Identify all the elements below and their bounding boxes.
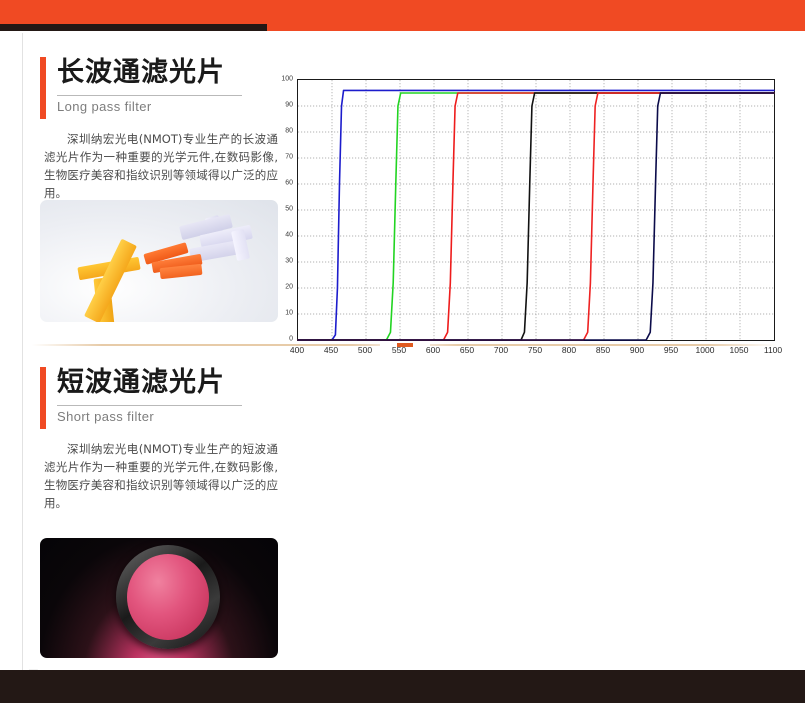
y-tick-label: 70 [285,154,293,161]
x-tick-label: 1050 [730,345,749,355]
x-tick-label: 900 [630,345,644,355]
y-tick-label: 20 [285,284,293,291]
long-pass-product-image [40,200,278,322]
x-tick-label: 1100 [764,345,782,355]
y-tick-label: 10 [285,310,293,317]
x-tick-label: 750 [528,345,542,355]
chart1-curves [298,80,774,340]
lens-ring [116,545,220,649]
page-title-cn: 长波通滤光片 [57,55,278,91]
page-root: 长波通滤光片 Long pass filter 深圳纳宏光电(NMOT)专业生产… [0,0,805,703]
y-tick-label: 30 [285,258,293,265]
y-tick-label: 60 [285,180,293,187]
x-tick-label: 500 [358,345,372,355]
long-pass-description: 深圳纳宏光电(NMOT)专业生产的长波通滤光片作为一种重要的光学元件,在数码影像… [44,130,278,202]
y-tick-label: 80 [285,128,293,135]
short-pass-text-column: 短波通滤光片 Short pass filter 深圳纳宏光电(NMOT)专业生… [40,365,278,512]
top-orange-banner [0,0,805,24]
long-pass-text-column: 长波通滤光片 Long pass filter 深圳纳宏光电(NMOT)专业生产… [40,55,278,202]
divider-left [32,344,380,346]
divider-right [430,344,777,346]
title-divider [57,405,242,406]
divider-dash-icon [397,343,413,347]
y-tick-label: 100 [281,76,293,83]
long-pass-title-block: 长波通滤光片 Long pass filter [40,55,278,114]
x-tick-label: 650 [460,345,474,355]
long-pass-transmission-chart: 0102030405060708090100 40045050055060065… [297,79,775,341]
x-tick-label: 400 [290,345,304,355]
x-tick-label: 450 [324,345,338,355]
top-orange-bar-right [267,24,805,31]
y-tick-label: 0 [289,336,293,343]
short-pass-product-image [40,538,278,658]
page-title-en: Long pass filter [57,99,278,114]
x-tick-label: 800 [562,345,576,355]
x-tick-label: 600 [426,345,440,355]
accent-bar-icon [40,57,46,119]
title-divider [57,95,242,96]
top-black-bar [0,24,267,31]
y-tick-label: 40 [285,232,293,239]
y-tick-label: 50 [285,206,293,213]
short-pass-description: 深圳纳宏光电(NMOT)专业生产的短波通滤光片作为一种重要的光学元件,在数码影像… [44,440,278,512]
x-tick-label: 950 [664,345,678,355]
x-tick-label: 1000 [696,345,715,355]
y-tick-label: 90 [285,102,293,109]
short-pass-title-block: 短波通滤光片 Short pass filter [40,365,278,424]
x-tick-label: 850 [596,345,610,355]
page-title-en: Short pass filter [57,409,278,424]
accent-bar-icon [40,367,46,429]
x-tick-label: 700 [494,345,508,355]
lens-glass [127,554,209,640]
bottom-black-band [0,670,805,703]
section-long-pass: 长波通滤光片 Long pass filter 深圳纳宏光电(NMOT)专业生产… [0,33,805,333]
chart1-plot-area [297,79,775,341]
section-divider [32,344,777,346]
page-title-cn: 短波通滤光片 [57,365,278,401]
